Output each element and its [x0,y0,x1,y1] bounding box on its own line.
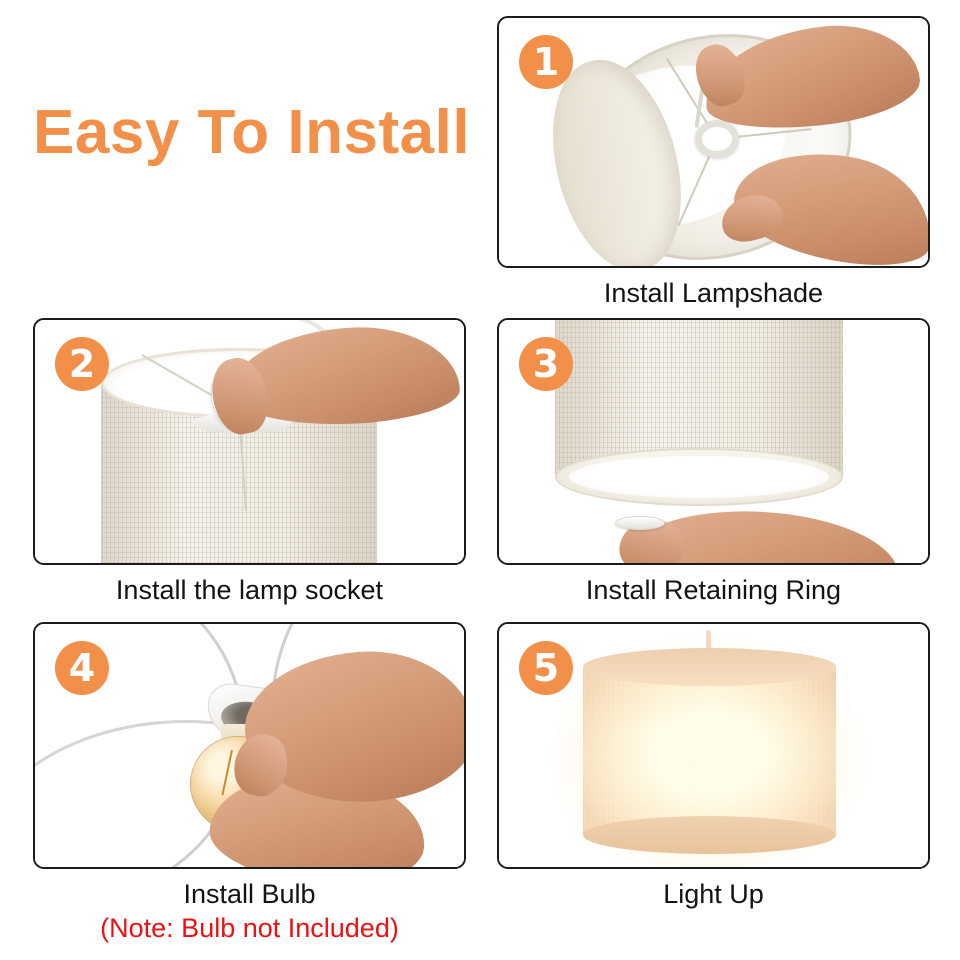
step-badge-5: 5 [519,641,573,695]
infographic-page: Easy To Install 1 Install Lampshade [0,0,960,960]
page-title: Easy To Install [33,100,470,165]
step-panel-1: 1 [497,16,930,268]
step-caption-3: Install Retaining Ring [497,574,930,607]
step-caption-1: Install Lampshade [497,277,930,310]
step-panel-2: 2 [33,318,466,565]
step-panel-5: 5 [497,622,930,869]
lit-lampshade [583,666,836,836]
step-badge-2: 2 [55,337,109,391]
step-badge-3: 3 [519,337,573,391]
step-caption-2: Install the lamp socket [33,574,466,607]
step-caption-4-note: (Note: Bulb not Included) [33,912,466,945]
lampshade-top-rim [583,648,836,686]
step-caption-4: Install Bulb [33,878,466,911]
step-badge-1: 1 [519,35,573,89]
step-panel-3: 3 [497,318,930,565]
step-caption-5: Light Up [497,878,930,911]
retaining-ring [615,516,665,530]
step-badge-4: 4 [55,641,109,695]
step-panel-4: 4 [33,622,466,869]
lampshade-bottom-opening [569,456,829,498]
lampshade-bottom-rim [583,816,836,854]
spider-fitter-ring [695,120,739,158]
